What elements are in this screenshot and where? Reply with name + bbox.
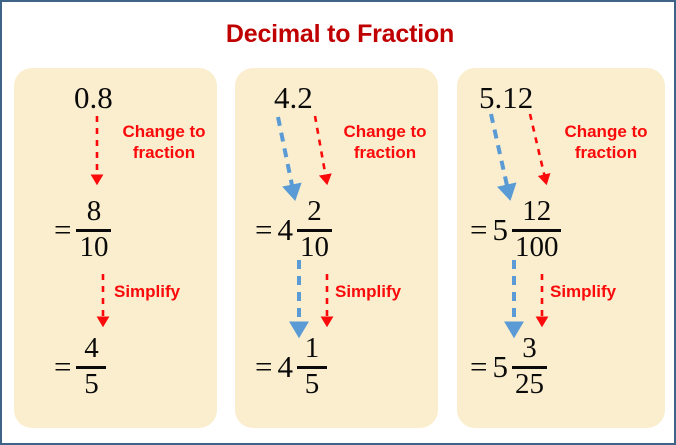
- example-1-step1: = 8 10: [54, 197, 111, 262]
- numerator: 12: [519, 197, 554, 227]
- fraction: 3 25: [512, 334, 547, 399]
- denominator: 10: [297, 233, 332, 263]
- denominator: 5: [81, 370, 102, 400]
- example-3-decimal: 5.12: [479, 82, 533, 113]
- example-3-step2: = 5 3 25: [470, 334, 547, 399]
- example-2-decimal: 4.2: [274, 82, 313, 113]
- equals-sign: =: [255, 214, 272, 245]
- example-2-simplify-label: Simplify: [335, 282, 435, 303]
- fraction: 1 5: [297, 334, 327, 399]
- fraction: 12 100: [512, 197, 562, 262]
- numerator: 4: [81, 334, 102, 364]
- example-1-step2: = 4 5: [54, 334, 106, 399]
- equals-sign: =: [470, 214, 487, 245]
- equals-sign: =: [470, 351, 487, 382]
- numerator: 1: [302, 334, 323, 364]
- page-title: Decimal to Fraction: [2, 20, 676, 49]
- equals-sign: =: [255, 351, 272, 382]
- fraction: 2 10: [297, 197, 332, 262]
- whole-number: 4: [277, 214, 293, 245]
- whole-number: 5: [492, 214, 508, 245]
- whole-number: 4: [277, 351, 293, 382]
- equals-sign: =: [54, 214, 71, 245]
- denominator: 100: [512, 233, 562, 263]
- numerator: 8: [84, 197, 105, 227]
- fraction: 8 10: [76, 197, 111, 262]
- fraction: 4 5: [76, 334, 106, 399]
- denominator: 25: [512, 370, 547, 400]
- whole-number: 5: [492, 351, 508, 382]
- numerator: 3: [519, 334, 540, 364]
- example-2-step1: = 4 2 10: [255, 197, 332, 262]
- equals-sign: =: [54, 351, 71, 382]
- example-3-simplify-label: Simplify: [550, 282, 660, 303]
- example-3-change-label: Change to fraction: [556, 122, 656, 163]
- example-3-step1: = 5 12 100: [470, 197, 561, 262]
- example-1-simplify-label: Simplify: [114, 282, 214, 303]
- example-2-step2: = 4 1 5: [255, 334, 327, 399]
- example-1-change-label: Change to fraction: [114, 122, 214, 163]
- example-2-change-label: Change to fraction: [335, 122, 435, 163]
- numerator: 2: [304, 197, 325, 227]
- denominator: 5: [302, 370, 323, 400]
- example-1-decimal: 0.8: [74, 82, 113, 113]
- denominator: 10: [76, 233, 111, 263]
- diagram-canvas: Decimal to Fraction 0.8 Change to fracti…: [0, 0, 676, 445]
